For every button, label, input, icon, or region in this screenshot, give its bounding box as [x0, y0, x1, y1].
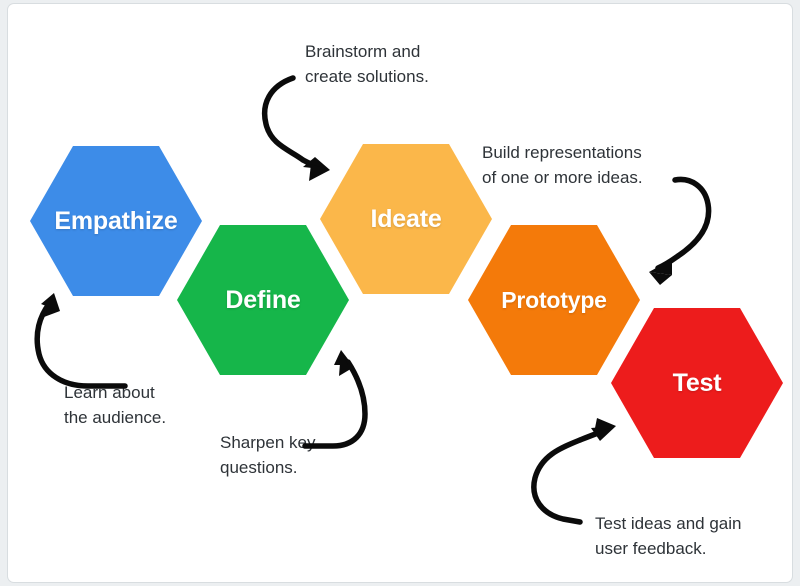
- diagram-card: Empathize Define Ideate Prototype Test B…: [8, 4, 792, 582]
- note-define: Sharpen key questions.: [220, 431, 315, 480]
- diagram-canvas: Empathize Define Ideate Prototype Test B…: [0, 0, 800, 586]
- note-test-line1: Test ideas and gain: [595, 512, 742, 537]
- arrow-to-empathize: [37, 293, 125, 386]
- note-empathize: Learn about the audience.: [64, 381, 166, 430]
- note-define-line1: Sharpen key: [220, 431, 315, 456]
- hexagon-label-ideate: Ideate: [370, 205, 441, 234]
- note-empathize-line1: Learn about: [64, 381, 166, 406]
- note-ideate-line2: create solutions.: [305, 65, 429, 90]
- note-test-line2: user feedback.: [595, 537, 742, 562]
- note-prototype: Build representations of one or more ide…: [482, 141, 643, 190]
- arrow-to-prototype: [649, 179, 709, 285]
- hexagon-label-prototype: Prototype: [501, 287, 607, 314]
- note-empathize-line2: the audience.: [64, 406, 166, 431]
- hexagon-label-define: Define: [225, 286, 300, 315]
- note-test: Test ideas and gain user feedback.: [595, 512, 742, 561]
- note-prototype-line2: of one or more ideas.: [482, 166, 643, 191]
- hexagon-label-empathize: Empathize: [54, 207, 177, 236]
- note-ideate-line1: Brainstorm and: [305, 40, 429, 65]
- note-define-line2: questions.: [220, 456, 315, 481]
- arrow-to-test: [534, 418, 616, 522]
- note-ideate: Brainstorm and create solutions.: [305, 40, 429, 89]
- hexagon-label-test: Test: [673, 369, 722, 398]
- arrow-to-ideate: [265, 78, 330, 181]
- note-prototype-line1: Build representations: [482, 141, 643, 166]
